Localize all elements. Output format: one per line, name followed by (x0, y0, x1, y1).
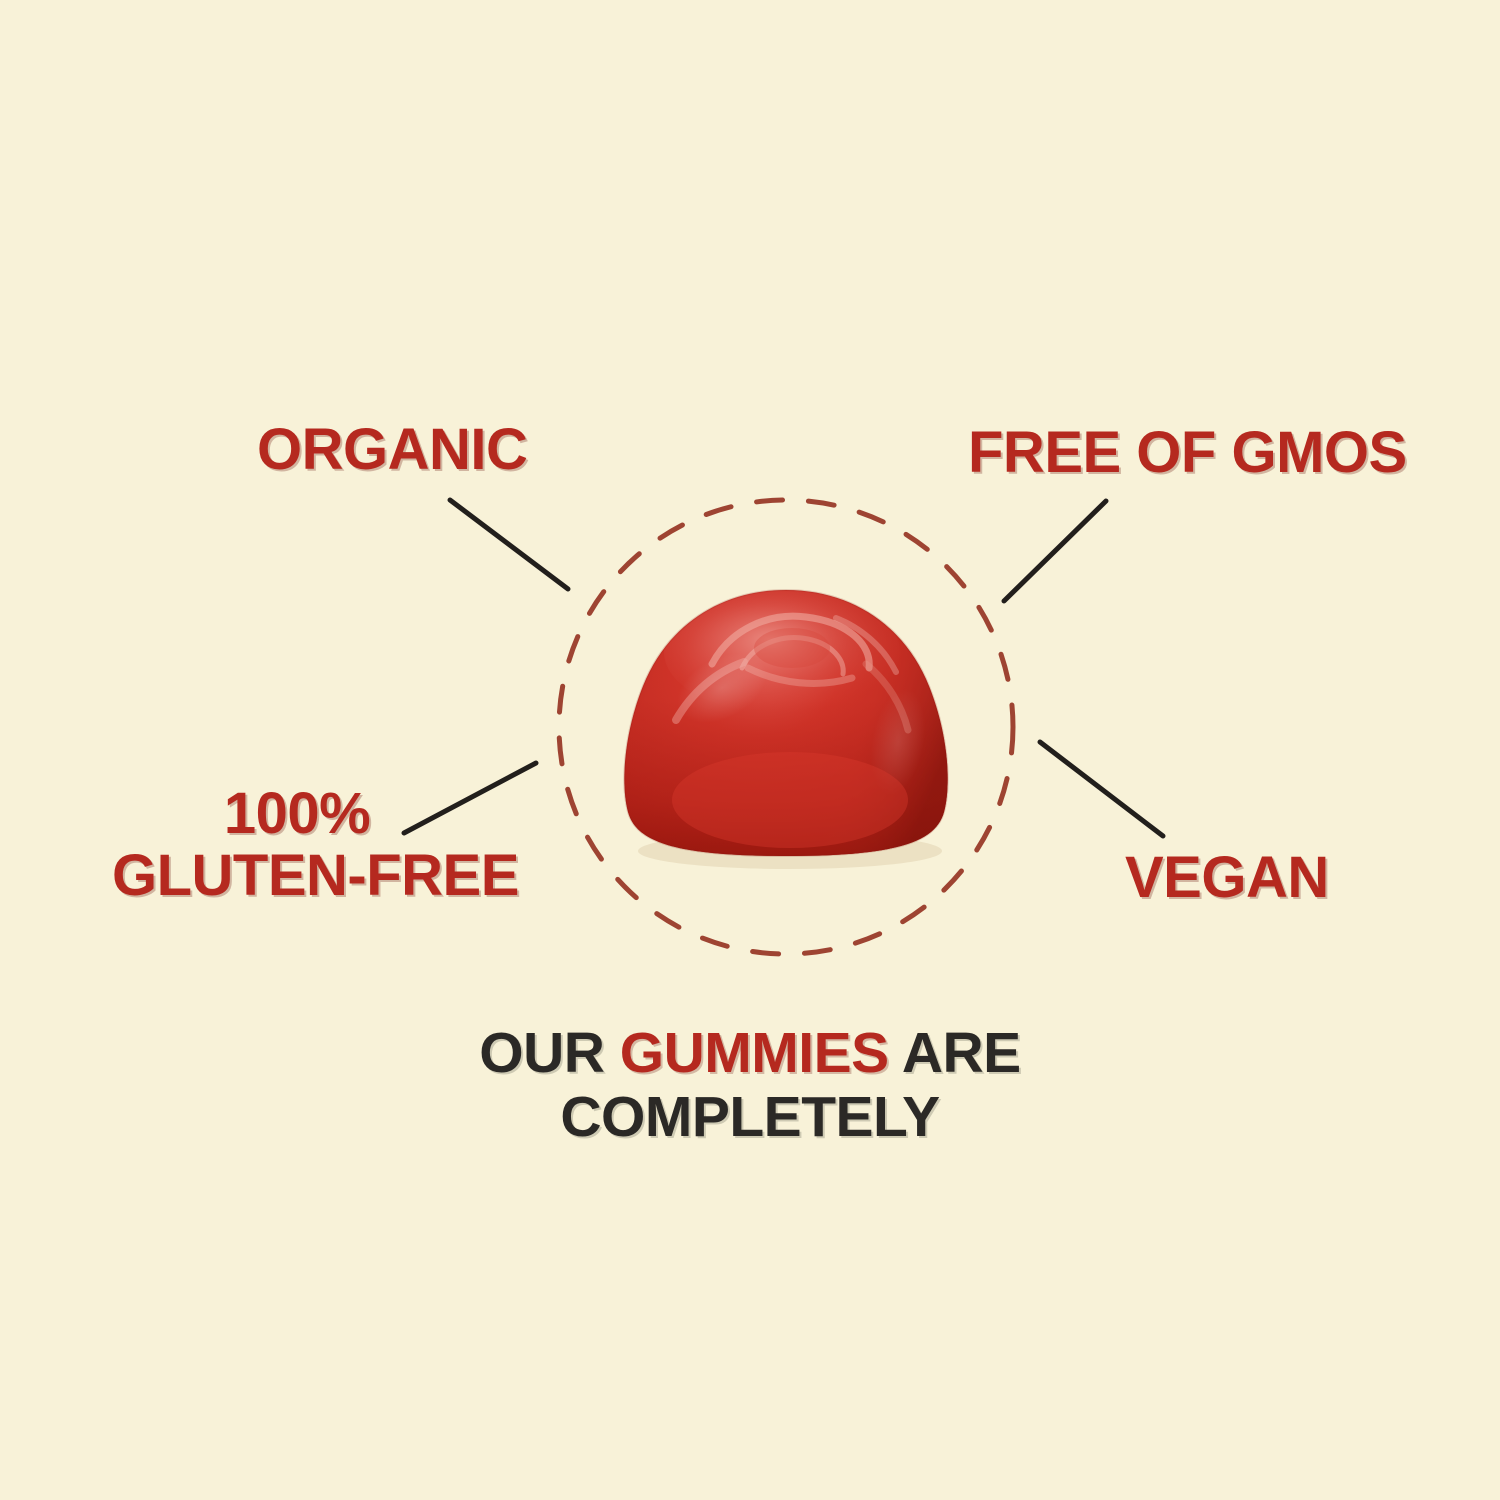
headline-text-before: OUR (479, 1021, 620, 1085)
headline-accent-word: GUMMIES (620, 1021, 889, 1085)
headline-text-after: ARE (889, 1021, 1021, 1085)
badge-label-vegan: VEGAN (1125, 849, 1329, 907)
gummy-apex-nub (754, 628, 830, 668)
badge-label-gluten-free-line1: 100% (112, 785, 482, 843)
badge-label-organic: ORGANIC (257, 421, 527, 479)
badge-label-gluten-free: 100%GLUTEN-FREE (112, 785, 482, 905)
infographic-canvas: ORGANIC FREE OF GMOS 100%GLUTEN-FREE VEG… (0, 0, 1500, 1500)
headline-line-2: COMPLETELY (0, 1086, 1500, 1150)
headline: OUR GUMMIES ARE COMPLETELY (0, 1022, 1500, 1150)
headline-line-1: OUR GUMMIES ARE (0, 1022, 1500, 1086)
gummy-inner-glow (672, 752, 908, 848)
gummy-product-image (0, 0, 1500, 1500)
badge-label-gluten-free-line2: GLUTEN-FREE (112, 847, 482, 905)
badge-label-free-of-gmos: FREE OF GMOS (968, 424, 1407, 482)
